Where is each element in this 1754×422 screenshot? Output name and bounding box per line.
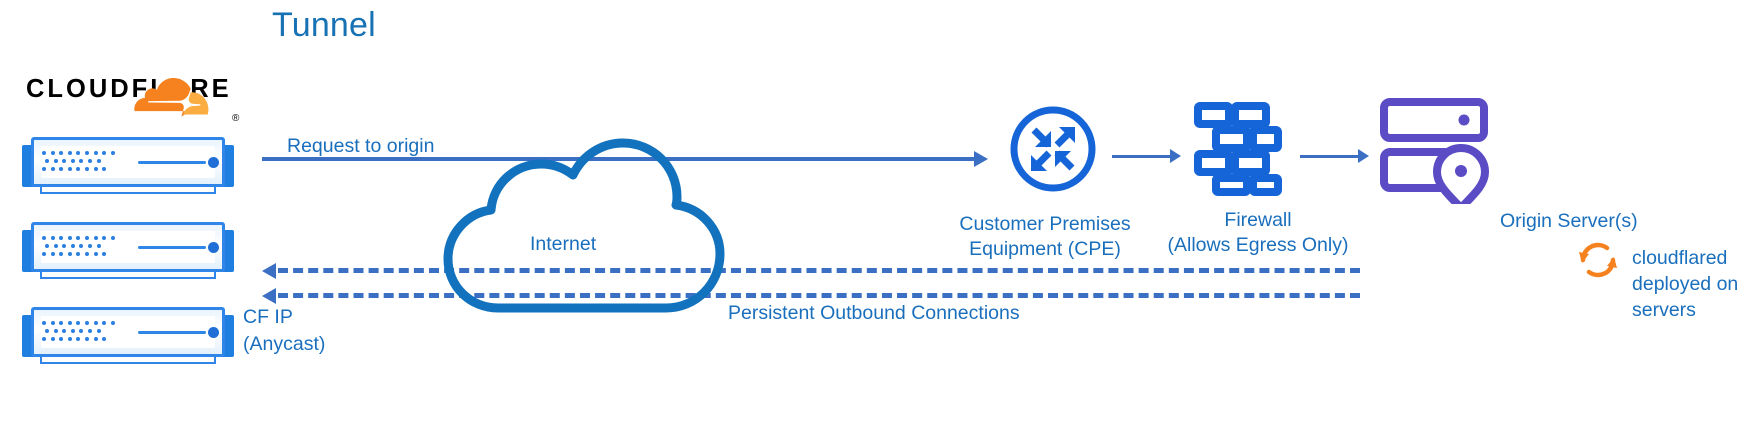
cloudflared-sync-icon [1576, 238, 1620, 282]
internet-cloud-icon [440, 136, 730, 316]
server-indicator-bar [138, 331, 206, 334]
cloudflare-trademark: ® [232, 113, 239, 124]
server-status-led [208, 157, 219, 168]
server-indicator-bar [138, 246, 206, 249]
persistent-connection-arrow-top [262, 263, 276, 279]
firewall-to-origin-arrow-head [1358, 149, 1369, 163]
cf-ip-anycast-label: CF IP (Anycast) [243, 304, 383, 358]
page-title: Tunnel [272, 6, 376, 45]
server-vent-dots [42, 236, 120, 258]
cpe-label-line2: Equipment (CPE) [969, 238, 1121, 260]
server-status-led [208, 327, 219, 338]
server-vent-dots [42, 151, 120, 173]
cloudflare-logo: CLOUDFLARE ® [26, 75, 236, 143]
server-vent-dots [42, 321, 120, 343]
cf-ip-label-line2: (Anycast) [243, 333, 325, 355]
cpe-to-firewall-line [1112, 155, 1174, 158]
cloudflare-server-unit [22, 135, 234, 197]
request-to-origin-arrow-head [974, 151, 988, 167]
cloudflare-server-unit [22, 220, 234, 282]
cloudflare-cloud-icon [130, 75, 222, 117]
request-to-origin-label: Request to origin [287, 134, 434, 159]
cf-ip-label-line1: CF IP [243, 306, 293, 328]
origin-server-icon [1378, 96, 1490, 204]
persistent-connection-arrow-bottom [262, 288, 276, 304]
cloudflared-label-line1: cloudflared [1632, 247, 1727, 269]
cloudflared-label-line2: deployed on [1632, 273, 1738, 295]
tunnel-architecture-diagram: Tunnel CLOUDFLARE ® [0, 0, 1754, 422]
firewall-label: Firewall (Allows Egress Only) [1158, 208, 1358, 258]
firewall-brick-wall-icon [1192, 100, 1284, 196]
cpe-aggregation-icon [1008, 104, 1098, 194]
persistent-outbound-connections-label: Persistent Outbound Connections [728, 301, 1020, 326]
origin-server-label: Origin Server(s) [1500, 209, 1710, 234]
cloudflared-label-line3: servers [1632, 299, 1696, 321]
firewall-to-origin-line [1300, 155, 1362, 158]
cloudflare-server-unit [22, 305, 234, 367]
server-status-led [208, 242, 219, 253]
cpe-label-line1: Customer Premises [959, 213, 1130, 235]
cloudflared-label: cloudflared deployed on servers [1632, 245, 1752, 323]
firewall-label-line1: Firewall [1224, 209, 1291, 231]
cpe-label: Customer Premises Equipment (CPE) [945, 212, 1145, 262]
server-indicator-bar [138, 161, 206, 164]
internet-label: Internet [530, 232, 596, 257]
cpe-to-firewall-arrow-head [1170, 149, 1181, 163]
firewall-label-line2: (Allows Egress Only) [1168, 234, 1349, 256]
